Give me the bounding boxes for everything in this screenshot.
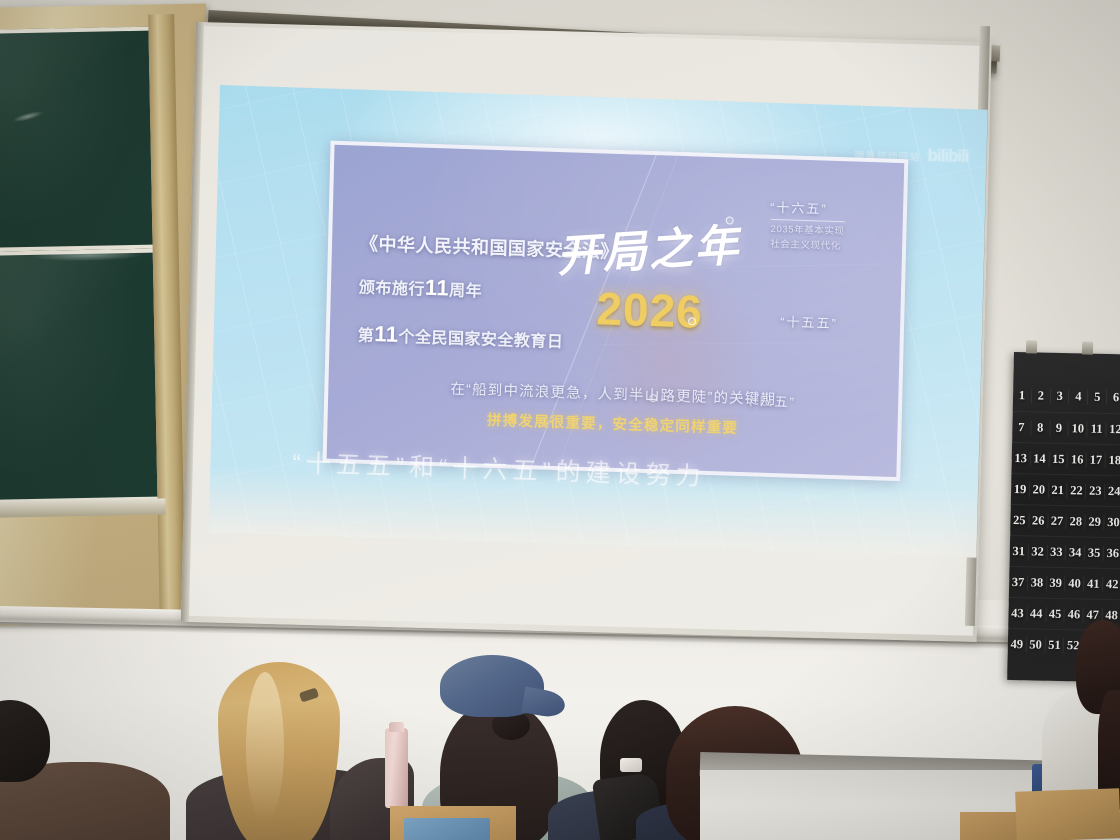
- pocket-cell[interactable]: 7: [1012, 419, 1031, 434]
- pocket-cell[interactable]: 10: [1069, 421, 1088, 436]
- projected-image-area: 弹幕视频网站 bilibili 《中华人民共和国国家安全法》 颁布施行11周年 …: [209, 85, 988, 558]
- pocket-cell[interactable]: 44: [1027, 606, 1046, 621]
- pocket-cell[interactable]: 1: [1013, 388, 1032, 403]
- pocket-cell[interactable]: 34: [1066, 545, 1085, 560]
- anniversary-number: 11: [425, 275, 450, 301]
- education-day-suffix: 个全民国家安全教育日: [398, 329, 563, 351]
- board-hook-right: [1082, 341, 1093, 354]
- education-day-number: 11: [374, 321, 399, 347]
- pocket-cell[interactable]: 26: [1029, 513, 1048, 528]
- pocket-cell[interactable]: 21: [1049, 482, 1068, 497]
- pocket-cell[interactable]: 39: [1047, 575, 1066, 590]
- notebook: [404, 818, 490, 840]
- pocket-cell[interactable]: 19: [1011, 481, 1030, 496]
- pocket-row: 131415161718: [1011, 442, 1120, 475]
- pocket-cell[interactable]: 3: [1051, 389, 1070, 404]
- pocket-cell[interactable]: 8: [1031, 420, 1050, 435]
- pocket-row: 192021222324: [1011, 473, 1120, 506]
- chalk-smudge: [33, 249, 143, 262]
- pocket-cell[interactable]: 33: [1047, 544, 1066, 559]
- thermos-bottle: [385, 728, 408, 808]
- pocket-cell[interactable]: 6: [1107, 390, 1120, 405]
- pocket-cell[interactable]: 29: [1086, 514, 1105, 529]
- pocket-cell[interactable]: 16: [1068, 452, 1087, 467]
- pocket-cell[interactable]: 9: [1050, 420, 1069, 435]
- blackboard-shelf: [0, 498, 166, 518]
- pocket-cell[interactable]: 36: [1104, 545, 1120, 560]
- pocket-cell[interactable]: 51: [1045, 637, 1064, 652]
- pocket-cell[interactable]: 15: [1049, 451, 1068, 466]
- student-desk: [1015, 788, 1120, 840]
- pocket-cell[interactable]: 37: [1009, 574, 1028, 589]
- anniversary-suffix: 周年: [449, 283, 482, 301]
- timeline-label-shiliuwu: “十六五”: [770, 197, 828, 218]
- pocket-cell[interactable]: 4: [1069, 389, 1088, 404]
- pocket-cell[interactable]: 28: [1067, 514, 1086, 529]
- pocket-cell[interactable]: 50: [1027, 637, 1046, 652]
- timeline-sub-line1: 2035年基本实现: [770, 223, 844, 239]
- pocket-cell[interactable]: 41: [1084, 576, 1103, 591]
- chalk-smudge: [12, 109, 45, 124]
- pocket-cell[interactable]: 23: [1086, 483, 1105, 498]
- timeline-sub-line2: 社会主义现代化: [770, 238, 841, 254]
- pocket-cell[interactable]: 35: [1085, 545, 1104, 560]
- pocket-cell[interactable]: 30: [1104, 514, 1120, 529]
- year-label: 2026: [596, 281, 704, 338]
- hair-clip: [620, 758, 642, 772]
- pocket-cell[interactable]: 45: [1046, 606, 1065, 621]
- pocket-cell[interactable]: 11: [1088, 421, 1107, 436]
- pocket-cell[interactable]: 27: [1048, 513, 1067, 528]
- pocket-cell[interactable]: 18: [1106, 452, 1120, 467]
- slide-card: 《中华人民共和国国家安全法》 颁布施行11周年 第11个全民国家安全教育日 开局…: [322, 141, 908, 482]
- pocket-cell[interactable]: 20: [1030, 482, 1049, 497]
- pocket-cell[interactable]: 24: [1105, 483, 1120, 498]
- blackboard-panel-upper: [0, 27, 157, 253]
- timeline-label-shiwuwu: “十五五”: [780, 311, 838, 332]
- pocket-cell[interactable]: 17: [1087, 452, 1106, 467]
- watermark-logo: bilibili: [927, 146, 968, 167]
- hair-highlight: [246, 672, 284, 822]
- pocket-cell[interactable]: 38: [1028, 575, 1047, 590]
- headline-calligraphy: 开局之年: [554, 209, 742, 285]
- pocket-cell[interactable]: 42: [1103, 576, 1120, 591]
- pocket-cell[interactable]: 13: [1012, 450, 1031, 465]
- pocket-cell[interactable]: 12: [1106, 421, 1120, 436]
- pocket-cell[interactable]: 31: [1010, 543, 1029, 558]
- classroom-photo: 弹幕视频网站 bilibili 《中华人民共和国国家安全法》 颁布施行11周年 …: [0, 0, 1120, 840]
- pocket-cell[interactable]: 43: [1008, 605, 1027, 620]
- pocket-cell[interactable]: 49: [1008, 636, 1027, 651]
- pocket-cell[interactable]: 25: [1010, 512, 1029, 527]
- pocket-cell[interactable]: 14: [1030, 451, 1049, 466]
- pocket-row: 313233343536: [1010, 535, 1120, 568]
- blackboard-slide-rail: [148, 14, 186, 614]
- pocket-row: 123456: [1013, 380, 1120, 413]
- pocket-row: 252627282930: [1010, 504, 1120, 537]
- education-day-prefix: 第: [357, 328, 374, 346]
- blackboard-panel-lower: [0, 249, 161, 505]
- pocket-cell[interactable]: 22: [1067, 483, 1086, 498]
- pocket-cell[interactable]: 46: [1065, 607, 1084, 622]
- anniversary-prefix: 颁布施行: [359, 280, 425, 299]
- pocket-cell[interactable]: 2: [1032, 388, 1051, 403]
- pocket-row: 789101112: [1012, 411, 1120, 444]
- thermos-cap: [389, 722, 404, 732]
- pocket-cell[interactable]: 32: [1028, 544, 1047, 559]
- pocket-cell[interactable]: 40: [1065, 576, 1084, 591]
- pocket-row: 373839404142: [1009, 566, 1120, 599]
- pocket-cell[interactable]: 5: [1088, 390, 1107, 405]
- board-hook-left: [1026, 340, 1037, 353]
